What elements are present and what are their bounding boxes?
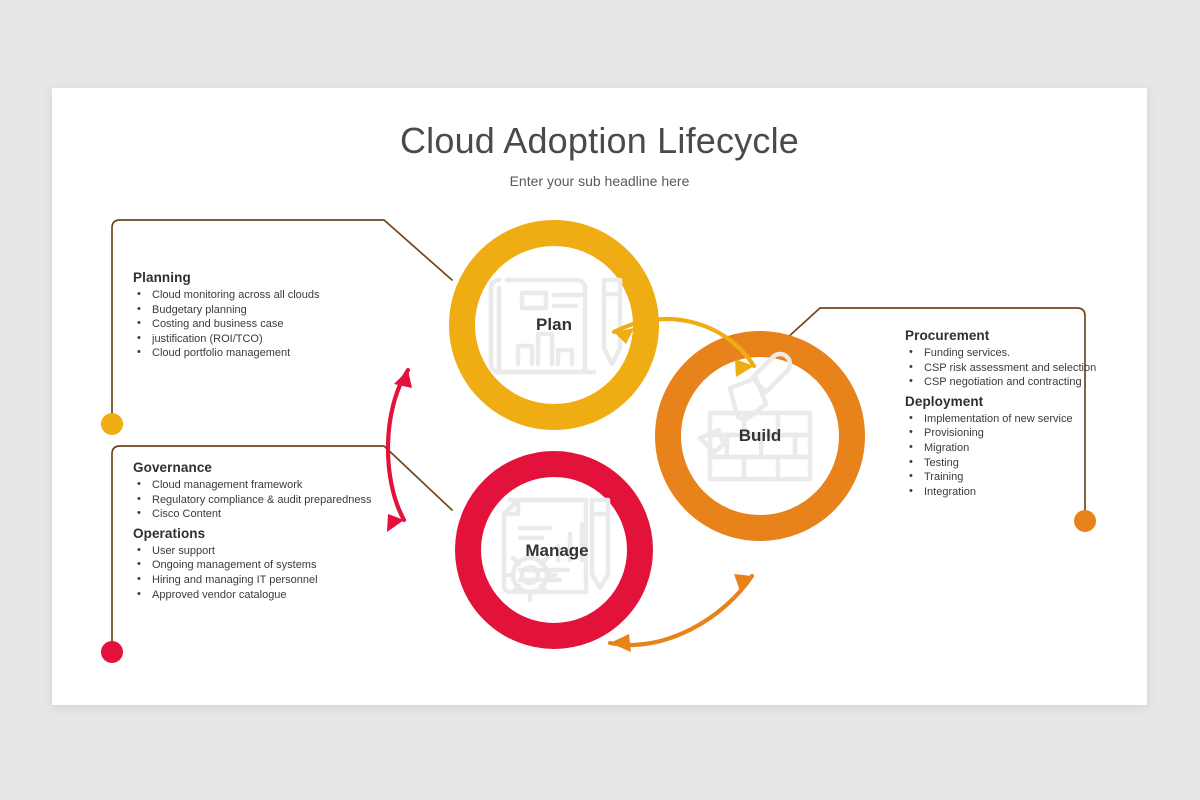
block-planning-heading: Planning <box>133 270 383 285</box>
plan-manage-arrow <box>387 370 412 532</box>
list-item: Cloud management framework <box>133 478 383 493</box>
stage-label-build: Build <box>695 426 825 446</box>
list-item: Funding services. <box>905 346 1130 361</box>
list-item: Integration <box>905 485 1130 500</box>
block-deployment-heading: Deployment <box>905 394 1130 409</box>
connector-dot-planning <box>101 413 123 435</box>
block-procurement-heading: Procurement <box>905 328 1130 343</box>
list-item: Ongoing management of systems <box>133 558 383 573</box>
block-planning-list: Cloud monitoring across all clouds Budge… <box>133 288 383 361</box>
list-item: Provisioning <box>905 426 1130 441</box>
connector-dot-governance <box>101 641 123 663</box>
block-governance-heading: Governance <box>133 460 383 475</box>
block-procurement-deployment: Procurement Funding services. CSP risk a… <box>905 328 1130 499</box>
list-item: Costing and business case <box>133 317 383 332</box>
slide-canvas: Cloud Adoption Lifecycle Enter your sub … <box>0 0 1200 800</box>
block-deployment-list: Implementation of new service Provisioni… <box>905 412 1130 500</box>
block-operations-list: User support Ongoing management of syste… <box>133 544 383 602</box>
block-governance: Governance Cloud management framework Re… <box>133 460 383 602</box>
list-item: justification (ROI/TCO) <box>133 332 383 347</box>
block-procurement-list: Funding services. CSP risk assessment an… <box>905 346 1130 390</box>
block-governance-list: Cloud management framework Regulatory co… <box>133 478 383 522</box>
stage-label-plan: Plan <box>489 315 619 335</box>
list-item: CSP risk assessment and selection <box>905 361 1130 376</box>
slide-card: Cloud Adoption Lifecycle Enter your sub … <box>52 88 1147 705</box>
list-item: Approved vendor catalogue <box>133 588 383 603</box>
list-item: Cloud portfolio management <box>133 346 383 361</box>
list-item: Hiring and managing IT personnel <box>133 573 383 588</box>
list-item: User support <box>133 544 383 559</box>
list-item: Cloud monitoring across all clouds <box>133 288 383 303</box>
list-item: Implementation of new service <box>905 412 1130 427</box>
list-item: Regulatory compliance & audit preparedne… <box>133 493 383 508</box>
list-item: Testing <box>905 456 1130 471</box>
list-item: CSP negotiation and contracting <box>905 375 1130 390</box>
list-item: Migration <box>905 441 1130 456</box>
stage-label-manage: Manage <box>477 541 637 561</box>
connector-dot-right <box>1074 510 1096 532</box>
list-item: Budgetary planning <box>133 303 383 318</box>
list-item: Training <box>905 470 1130 485</box>
block-operations-heading: Operations <box>133 526 383 541</box>
list-item: Cisco Content <box>133 507 383 522</box>
block-planning: Planning Cloud monitoring across all clo… <box>133 270 383 361</box>
